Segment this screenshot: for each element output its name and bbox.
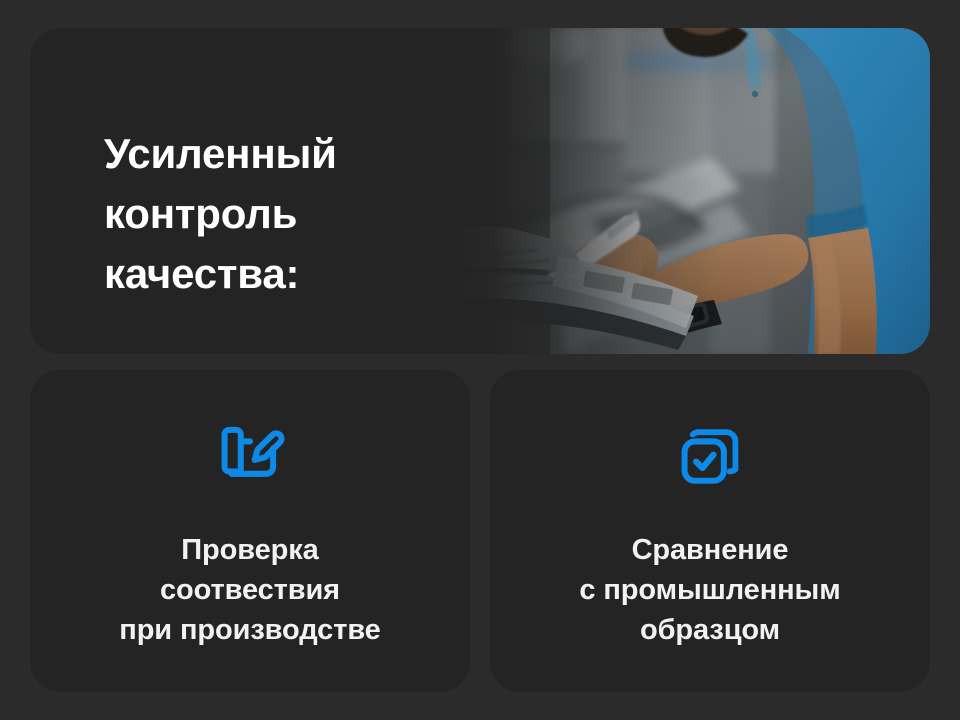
compare-check-icon xyxy=(673,416,747,490)
feature-card-inspection[interactable]: Проверка соотвествия при производстве xyxy=(30,370,470,692)
feature-card-list: Проверка соотвествия при производстве Ср… xyxy=(30,370,930,692)
feature-card-comparison[interactable]: Сравнение с промышленным образцом xyxy=(490,370,930,692)
hero-photo xyxy=(410,28,930,354)
feature-card-label: Проверка соотвествия при производстве xyxy=(119,530,380,650)
feature-card-label: Сравнение с промышленным образцом xyxy=(579,530,840,650)
poster-canvas: Усиленный контроль качества: Проверка со… xyxy=(0,0,960,720)
notepad-pencil-icon xyxy=(213,416,287,490)
hero-card: Усиленный контроль качества: xyxy=(30,28,930,354)
hero-title: Усиленный контроль качества: xyxy=(104,124,434,304)
